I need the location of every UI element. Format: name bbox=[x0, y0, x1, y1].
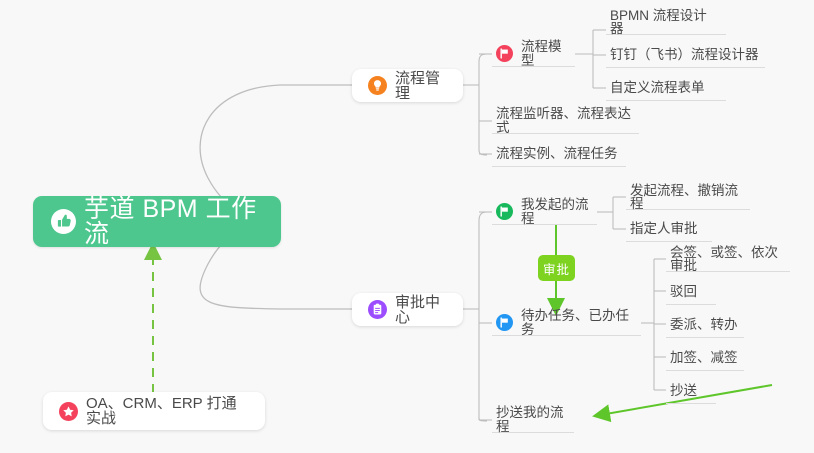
node-custom-process-form[interactable]: 自定义流程表单 bbox=[606, 75, 726, 101]
node-my-initiated-process[interactable]: 我发起的流程 bbox=[492, 199, 597, 225]
node-label: 抄送 bbox=[670, 384, 697, 398]
node-dingtalk-feishu-designer[interactable]: 钉钉（飞书）流程设计器 bbox=[606, 42, 765, 68]
node-assigned-approver[interactable]: 指定人审批 bbox=[626, 216, 712, 242]
node-label: 自定义流程表单 bbox=[610, 81, 705, 95]
node-label: 委派、转办 bbox=[670, 318, 738, 332]
node-process-listener-expression[interactable]: 流程监听器、流程表达式 bbox=[492, 108, 639, 134]
thumbs-up-icon bbox=[51, 209, 76, 234]
node-bpmn-designer[interactable]: BPMN 流程设计器 bbox=[606, 10, 726, 35]
node-cc[interactable]: 抄送 bbox=[666, 378, 716, 404]
node-cc-to-me[interactable]: 抄送我的流程 bbox=[492, 407, 574, 433]
node-label: 发起流程、撤销流程 bbox=[630, 184, 744, 211]
node-label: 流程实例、流程任务 bbox=[496, 147, 618, 161]
node-label: 指定人审批 bbox=[630, 222, 698, 236]
node-delegate-transfer[interactable]: 委派、转办 bbox=[666, 312, 744, 338]
footnote-node[interactable]: OA、CRM、ERP 打通实战 bbox=[43, 392, 265, 430]
lightbulb-icon bbox=[368, 76, 387, 95]
approval-badge-label: 审批 bbox=[543, 259, 570, 278]
mindmap-canvas: 芋道 BPM 工作流 流程管理 流程模型 BPMN 流程设计器 钉钉（飞书）流程… bbox=[0, 0, 814, 453]
branch-node-process-management[interactable]: 流程管理 bbox=[352, 69, 463, 102]
node-reject[interactable]: 驳回 bbox=[666, 279, 716, 305]
node-label: 钉钉（飞书）流程设计器 bbox=[610, 48, 759, 62]
node-label: 流程监听器、流程表达式 bbox=[496, 107, 633, 134]
flag-icon bbox=[496, 203, 513, 220]
node-start-cancel-process[interactable]: 发起流程、撤销流程 bbox=[626, 185, 750, 210]
star-icon bbox=[59, 402, 78, 421]
node-label: 驳回 bbox=[670, 285, 697, 299]
branch-label: 审批中心 bbox=[395, 295, 447, 325]
node-label: 会签、或签、依次审批 bbox=[670, 246, 784, 273]
node-label: BPMN 流程设计器 bbox=[610, 9, 720, 36]
approval-badge: 审批 bbox=[538, 255, 575, 281]
node-process-model[interactable]: 流程模型 bbox=[492, 41, 575, 67]
root-label: 芋道 BPM 工作流 bbox=[84, 197, 263, 247]
node-label: 抄送我的流程 bbox=[496, 406, 568, 433]
branch-node-approval-center[interactable]: 审批中心 bbox=[352, 293, 463, 326]
node-countersign-orsign-sequential[interactable]: 会签、或签、依次审批 bbox=[666, 247, 790, 272]
branch-label: 流程管理 bbox=[395, 71, 447, 101]
node-add-remove-sign[interactable]: 加签、减签 bbox=[666, 345, 744, 371]
flag-icon bbox=[496, 45, 513, 62]
node-todo-done-tasks[interactable]: 待办任务、已办任务 bbox=[492, 310, 641, 336]
clipboard-icon bbox=[368, 300, 387, 319]
node-process-instance-task[interactable]: 流程实例、流程任务 bbox=[492, 141, 626, 167]
node-label: 加签、减签 bbox=[670, 351, 738, 365]
flag-icon bbox=[496, 314, 513, 331]
footnote-label: OA、CRM、ERP 打通实战 bbox=[86, 396, 249, 426]
root-node[interactable]: 芋道 BPM 工作流 bbox=[33, 196, 281, 247]
node-label: 流程模型 bbox=[521, 40, 569, 67]
node-label: 我发起的流程 bbox=[521, 198, 591, 225]
node-label: 待办任务、已办任务 bbox=[521, 309, 635, 336]
